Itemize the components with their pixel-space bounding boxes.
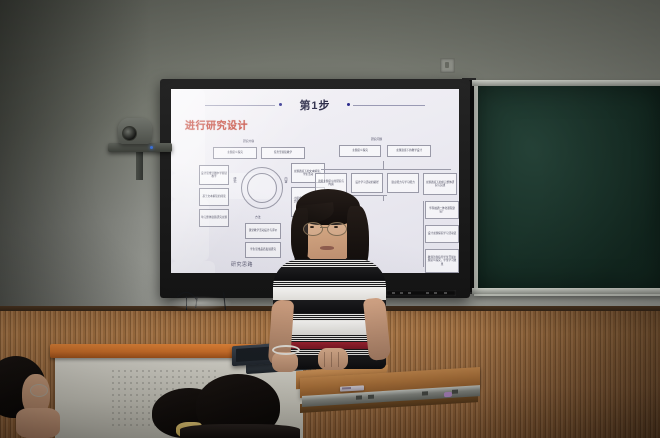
right-top-box-0: 主题意义探究 [339,145,381,157]
left-caption: 研究思路 [231,261,253,268]
right-row-box-2: 语言能力与学习能力 [387,173,419,193]
presenter-hand-left [272,352,298,372]
presenter-bracelet [272,345,300,355]
eraser[interactable] [444,392,452,397]
right-group-label: 研究问题 [371,137,382,141]
presenter-hand-right [318,348,348,370]
whiteboard-control-panel[interactable] [386,290,456,296]
left-bottom-group [171,261,215,273]
left-top-box-1: 任务型阅读教学 [261,147,305,159]
right-vertical-label: 内容 [284,177,288,183]
right-side-box-2: 教师怎样指导学生开展主题意义探究，学生学习效果 [425,249,459,273]
glasses-bridge-icon [320,227,328,228]
title-rule-left [205,105,275,106]
left-bottom-box-1: 学生思维品质发展研究 [245,242,281,258]
slide-step-title: 第1步 [299,97,330,113]
title-dot-right-icon [347,103,350,106]
left-bottom-box-0: 课堂教学活动设计与评价 [245,223,281,239]
glasses-left-lens-icon [303,222,323,236]
camera-led-icon [150,146,153,149]
right-side-spine [423,201,424,267]
shirt-stripe-2 [273,280,386,287]
blackboard-top-rail [472,80,660,86]
camera-lens-icon [122,126,137,141]
wall-shadow [0,0,150,330]
right-side-box-1: 设计主题探究学习活动链 [425,225,459,243]
blackboard [474,82,660,296]
slide-heading: 进行研究设计 [185,117,248,132]
cycle-ring-inner [247,173,277,203]
audience-shoulder-left [16,408,60,438]
shirt-stripe-0 [273,259,386,268]
left-top-box-0: 主题意义探究 [213,147,257,159]
blackboard-chalk-tray [472,288,660,294]
right-connector-vertical [383,161,384,169]
wainscot-shadow [470,311,660,438]
classroom-scene: 第1步 进行研究设计 研究内容 主题意义探究 任务型阅读教学 设计思维导图中学阅… [0,0,660,438]
title-rule-right [353,105,425,106]
left-group-label: 研究内容 [243,139,254,143]
left-box-2: 单元整体语篇研究主题 [199,209,229,227]
presenter-hair-left [292,208,308,266]
right-row-box-1: 设计学习活动的路径 [351,173,383,193]
wall-outlet-icon [440,58,455,73]
glasses-right-lens-icon [327,222,347,236]
right-connector-horizontal [321,169,451,170]
audience-glasses-icon [30,384,48,397]
camera-mount-arm [136,150,143,180]
audience-shoulder-right [180,424,300,438]
title-dot-left-icon [279,103,282,106]
cable-bundle [168,296,232,310]
shirt-stripe-1 [273,268,386,280]
left-vertical-label: 研究 [233,177,237,183]
left-bottom-group-label: 方法 [255,215,261,219]
right-side-box-0: 学科融通一体化课程建设？ [425,201,459,219]
presenter-mouth [320,246,334,250]
left-box-1: 基于文本解读的阅读 [199,188,229,206]
presenter-eye-right [334,226,338,228]
right-top-box-1: 主题语境下的教学设计 [387,145,431,157]
left-box-0: 设计思维导图中学阅读教学 [199,165,229,185]
presenter-eye-left [310,226,314,228]
right-row-box-3: 主题语境下的单元整体研究与实践 [423,173,457,195]
camera-bracket [108,143,172,152]
right-connector-stub [383,195,384,201]
